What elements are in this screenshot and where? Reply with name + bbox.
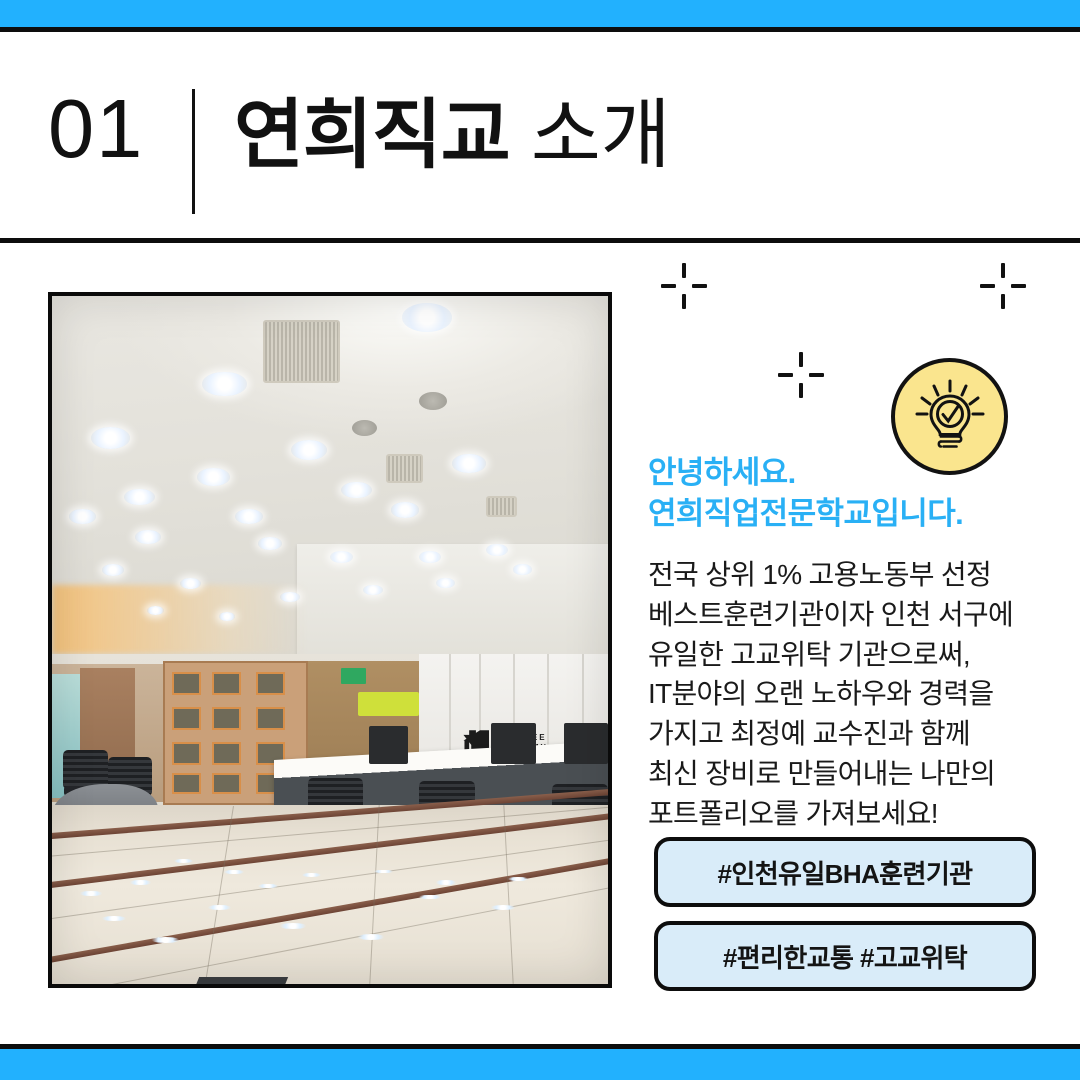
floor-reflection bbox=[102, 916, 126, 921]
downlight bbox=[202, 372, 246, 397]
monitor bbox=[564, 723, 608, 764]
intro-kicker: 안녕하세요. 연희직업전문학교입니다. bbox=[648, 453, 1044, 535]
entry-mat bbox=[194, 977, 287, 984]
polished-floor bbox=[52, 805, 608, 984]
tile-line bbox=[503, 805, 513, 984]
tile-line bbox=[205, 806, 234, 983]
floor-reflection bbox=[419, 895, 441, 900]
shelf-cell bbox=[212, 773, 241, 793]
body-line: 포트폴리오를 가져보세요! bbox=[648, 794, 1044, 834]
floor-reflection bbox=[152, 937, 179, 943]
page-title-light: 소개 bbox=[531, 93, 671, 178]
kicker-line-1: 안녕하세요. bbox=[648, 453, 1044, 494]
monitor bbox=[369, 726, 408, 764]
page-title-strong: 연희직교 bbox=[234, 93, 510, 178]
slide-header: 01 연희직교 소개 bbox=[0, 32, 1080, 238]
shelf-cell bbox=[172, 707, 201, 730]
downlight bbox=[452, 454, 485, 473]
body-line: 가지고 최정예 교수진과 함께 bbox=[648, 714, 1044, 754]
floor-reflection bbox=[280, 923, 306, 929]
floor-reflection bbox=[80, 891, 102, 896]
shelf-cell bbox=[256, 707, 285, 730]
shelf-cell bbox=[212, 672, 241, 695]
header-divider bbox=[192, 89, 195, 214]
floor-reflection bbox=[174, 859, 193, 863]
downlight bbox=[135, 530, 161, 544]
shelf-cell bbox=[172, 773, 201, 793]
body-line: IT분야의 오랜 노하우와 경력을 bbox=[648, 674, 1044, 714]
floor-reflection bbox=[258, 884, 278, 888]
page-title: 연희직교 소개 bbox=[234, 92, 671, 179]
monitor bbox=[491, 723, 535, 764]
floor-reflection bbox=[508, 877, 528, 881]
hashtag-list: #인천유일BHA훈련기관 #편리한교통 #고교위탁 bbox=[654, 837, 1036, 1005]
downlight bbox=[91, 427, 130, 449]
downlight bbox=[124, 489, 155, 506]
tile-line bbox=[370, 805, 380, 984]
downlight bbox=[402, 303, 452, 332]
downlight bbox=[180, 578, 201, 589]
cove-light bbox=[52, 585, 308, 654]
shelf-cell bbox=[172, 742, 201, 765]
header-bottom-rule bbox=[0, 238, 1080, 243]
shelf-cell bbox=[172, 672, 201, 695]
ceiling-speaker bbox=[419, 392, 447, 410]
downlight bbox=[197, 468, 230, 486]
ceiling-vent bbox=[386, 454, 423, 483]
top-accent-bar bbox=[0, 0, 1080, 27]
green-signboard bbox=[358, 692, 419, 717]
sparkle-icon bbox=[778, 352, 824, 398]
downlight bbox=[391, 502, 419, 517]
section-number: 01 bbox=[48, 87, 144, 170]
hashtag-pill-1[interactable]: #인천유일BHA훈련기관 bbox=[654, 837, 1036, 907]
sparkle-icon bbox=[661, 263, 707, 309]
ceiling-vent bbox=[263, 320, 339, 382]
intro-body: 전국 상위 1% 고용노동부 선정 베스트훈련기관이자 인천 서구에 유일한 고… bbox=[648, 555, 1044, 833]
downlight bbox=[486, 544, 508, 556]
shelf-cell bbox=[212, 742, 241, 765]
floor-stripe bbox=[52, 845, 608, 971]
downlight bbox=[280, 592, 300, 602]
body-line: 전국 상위 1% 고용노동부 선정 bbox=[648, 555, 1044, 595]
floor-reflection bbox=[224, 870, 244, 874]
shelf-cell bbox=[256, 672, 285, 695]
lobby-photo: YEONHEE ACADEMY bbox=[48, 292, 612, 988]
ceiling-vent bbox=[486, 496, 518, 518]
downlight bbox=[258, 537, 282, 550]
floor-reflection bbox=[208, 905, 231, 910]
downlight bbox=[341, 482, 372, 499]
body-line: 최신 장비로 만들어내는 나만의 bbox=[648, 754, 1044, 794]
bottom-accent-bar bbox=[0, 1049, 1080, 1080]
downlight bbox=[513, 564, 532, 574]
photo-canvas: YEONHEE ACADEMY bbox=[52, 296, 608, 984]
kicker-line-2: 연희직업전문학교입니다. bbox=[648, 494, 1044, 535]
downlight bbox=[330, 551, 353, 563]
floor-reflection bbox=[358, 934, 385, 940]
floor-reflection bbox=[436, 880, 456, 884]
downlight bbox=[436, 578, 455, 588]
downlight bbox=[419, 551, 441, 563]
slide-root: 01 연희직교 소개 bbox=[0, 0, 1080, 1080]
exit-sign bbox=[341, 668, 366, 685]
body-line: 베스트훈련기관이자 인천 서구에 bbox=[648, 595, 1044, 635]
floor-reflection bbox=[302, 873, 321, 877]
sparkle-icon bbox=[980, 263, 1026, 309]
shelf-cell bbox=[212, 707, 241, 730]
hashtag-pill-2[interactable]: #편리한교통 #고교위탁 bbox=[654, 921, 1036, 991]
floor-reflection bbox=[130, 880, 151, 884]
tile-line bbox=[52, 878, 608, 984]
body-line: 유일한 고교위탁 기관으로써, bbox=[648, 635, 1044, 675]
floor-reflection bbox=[374, 870, 393, 874]
